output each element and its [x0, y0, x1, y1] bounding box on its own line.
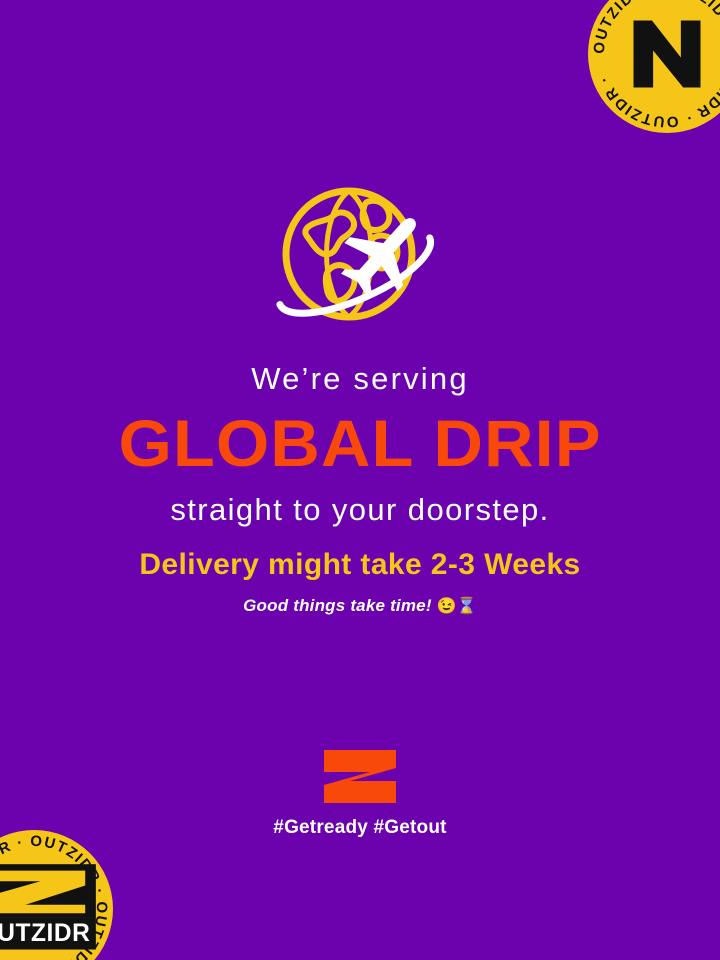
wink-hourglass-emoji: 😉⌛: [437, 598, 477, 615]
globe-airplane-icon: [245, 176, 475, 341]
poster-canvas: OUTZIDR · OUTZIDR · OUTZIDR · OUTZIDR ·: [0, 0, 720, 960]
delivery-tagline-text: Good things take time!: [243, 596, 432, 615]
badge-core-label-bottom-left: OUTZIDR: [0, 920, 90, 947]
delivery-notice-text: Delivery might take 2-3 Weeks: [0, 548, 720, 583]
delivery-tagline: Good things take time! 😉⌛: [0, 596, 720, 616]
brand-badge-top-right: OUTZIDR · OUTZIDR · OUTZIDR · OUTZIDR ·: [588, 0, 720, 133]
hero-illustration: [0, 176, 720, 341]
headline-block: We’re serving GLOBAL DRIP straight to yo…: [0, 362, 720, 527]
page-title: GLOBAL DRIP: [0, 408, 720, 479]
badge-core-letter-top-right: [615, 2, 719, 106]
delivery-block: Delivery might take 2-3 Weeks Good thing…: [0, 548, 720, 616]
brand-badge-bottom-left: OUTZIDR · OUTZIDR · OUTZIDR · OUTZIDR · …: [0, 830, 113, 960]
subhead-text: straight to your doorstep.: [0, 493, 720, 527]
eyebrow-text: We’re serving: [0, 362, 720, 396]
badge-core-bottom-left: OUTZIDR: [0, 854, 98, 960]
z-logo-icon: [320, 748, 400, 805]
footer-brand: #Getready #Getout: [0, 748, 720, 839]
